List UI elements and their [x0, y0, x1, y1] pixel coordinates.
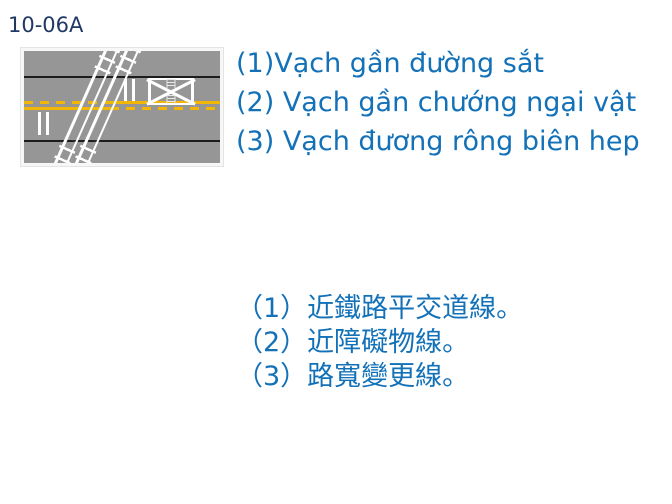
- white-transverse-bar-lower-left-1: [38, 112, 41, 135]
- chinese-line-1: （1）近鐵路平交道線。: [236, 292, 664, 326]
- slide-page: 10-06A: [0, 0, 672, 504]
- yellow-dashed-center-line-left: [24, 101, 112, 104]
- figure-frame: [20, 47, 224, 167]
- xing-mini-track-top: [167, 79, 176, 88]
- xing-mini-track-bottom: [167, 95, 176, 104]
- page-title: 10-06A: [8, 12, 83, 38]
- level-crossing-x-icon: [148, 78, 194, 105]
- chinese-text-block: （1）近鐵路平交道線。 （2）近障礙物線。 （3）路寬變更線。: [236, 292, 664, 394]
- chinese-line-2: （2）近障礙物線。: [236, 326, 664, 360]
- yellow-dashed-center-line-right: [110, 107, 220, 110]
- white-transverse-bar-lower-left-2: [46, 112, 49, 135]
- chinese-line-3: （3）路寬變更線。: [236, 360, 664, 394]
- vietnamese-line-1: (1)Vạch gần đường sắt: [236, 44, 664, 83]
- road-marking-diagram: [24, 51, 220, 163]
- vietnamese-line-3: (3) Vạch đương rông biên hep: [236, 122, 664, 161]
- white-transverse-bar-upper-right-2: [132, 79, 135, 101]
- road-edge-line-bottom: [24, 140, 220, 142]
- vietnamese-text-block: (1)Vạch gần đường sắt (2) Vạch gần chướn…: [236, 44, 664, 161]
- vietnamese-line-2: (2) Vạch gần chướng ngại vật: [236, 83, 664, 122]
